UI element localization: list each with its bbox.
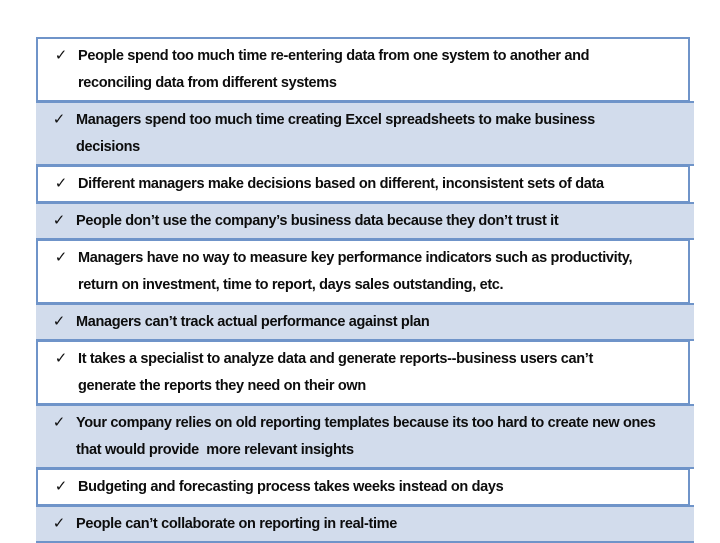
- table-row: ✓Managers can’t track actual performance…: [36, 303, 694, 341]
- table-row: ✓Different managers make decisions based…: [36, 165, 690, 203]
- pain-point-text: It takes a specialist to analyze data an…: [78, 345, 655, 399]
- pain-point-text: Your company relies on old reporting tem…: [76, 409, 660, 463]
- pain-point-text: People don’t use the company’s business …: [76, 207, 660, 234]
- table-row: ✓People don’t use the company’s business…: [36, 202, 694, 240]
- checkmark-icon: ✓: [42, 207, 76, 234]
- checkmark-icon: ✓: [42, 106, 76, 133]
- table-row: ✓Budgeting and forecasting process takes…: [36, 468, 690, 506]
- pain-point-text: People can’t collaborate on reporting in…: [76, 510, 660, 537]
- checkmark-icon: ✓: [44, 42, 78, 69]
- checkmark-icon: ✓: [42, 308, 76, 335]
- slide-canvas: ✓People spend too much time re-entering …: [0, 0, 720, 540]
- checkmark-icon: ✓: [44, 473, 78, 500]
- checkmark-icon: ✓: [42, 409, 76, 436]
- table-row: ✓It takes a specialist to analyze data a…: [36, 340, 690, 405]
- pain-point-text: Managers have no way to measure key perf…: [78, 244, 655, 298]
- checkmark-icon: ✓: [44, 345, 78, 372]
- checkmark-icon: ✓: [44, 170, 78, 197]
- pain-point-text: People spend too much time re-entering d…: [78, 42, 655, 96]
- table-row: ✓Managers have no way to measure key per…: [36, 239, 690, 304]
- business-pain-points-table: ✓People spend too much time re-entering …: [36, 37, 694, 542]
- table-row: ✓People can’t collaborate on reporting i…: [36, 505, 694, 543]
- pain-point-text: Different managers make decisions based …: [78, 170, 655, 197]
- checkmark-icon: ✓: [42, 510, 76, 537]
- pain-point-text: Managers can’t track actual performance …: [76, 308, 660, 335]
- pain-point-text: Managers spend too much time creating Ex…: [76, 106, 660, 160]
- pain-point-text: Budgeting and forecasting process takes …: [78, 473, 655, 500]
- table-row: ✓Managers spend too much time creating E…: [36, 101, 694, 166]
- table-row: ✓Your company relies on old reporting te…: [36, 404, 694, 469]
- checkmark-icon: ✓: [44, 244, 78, 271]
- table-row: ✓People spend too much time re-entering …: [36, 37, 690, 102]
